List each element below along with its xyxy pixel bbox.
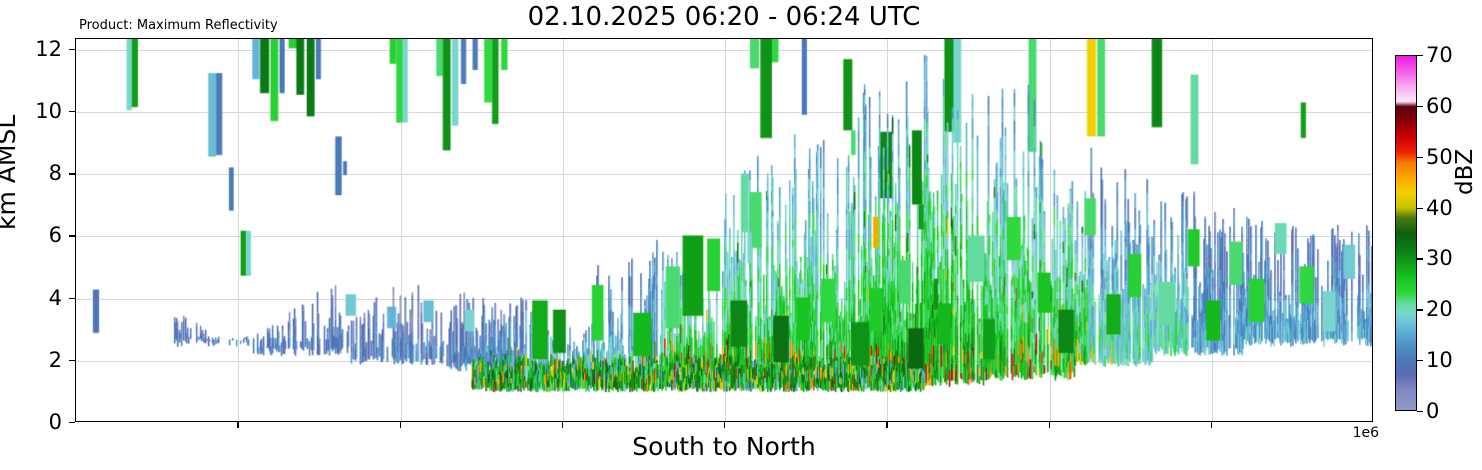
- colorbar-tick-mark: [1417, 208, 1423, 209]
- colorbar-tick-mark: [1417, 55, 1423, 56]
- colorbar-tick-mark: [1417, 157, 1423, 158]
- colorbar-label: dBZ: [1452, 149, 1478, 195]
- radar-cross-section-figure: 02.10.2025 06:20 - 06:24 UTC Product: Ma…: [0, 0, 1482, 470]
- colorbar-tick-label: 40: [1426, 196, 1453, 220]
- reflectivity-heatmap: [76, 39, 1372, 421]
- y-tick-label: 2: [0, 348, 62, 372]
- x-tick-mark: [562, 422, 563, 428]
- colorbar-tick-label: 0: [1426, 399, 1439, 423]
- colorbar-tick-mark: [1417, 411, 1423, 412]
- y-tick-label: 8: [0, 161, 62, 185]
- colorbar-tick-mark: [1417, 360, 1423, 361]
- y-tick-label: 12: [0, 37, 62, 61]
- colorbar-tick-label: 20: [1426, 297, 1453, 321]
- x-axis-label: South to North: [75, 432, 1373, 461]
- colorbar-gradient: [1395, 55, 1417, 411]
- plot-area[interactable]: [75, 38, 1373, 422]
- product-annotation: Product: Maximum Reflectivity: [79, 18, 278, 33]
- colorbar-tick-label: 70: [1426, 43, 1453, 67]
- colorbar-tick-label: 60: [1426, 94, 1453, 118]
- colorbar-tick-label: 50: [1426, 145, 1453, 169]
- x-tick-mark: [1211, 422, 1212, 428]
- colorbar-tick-label: 30: [1426, 246, 1453, 270]
- y-tick-label: 0: [0, 410, 62, 434]
- y-tick-mark: [69, 298, 75, 299]
- y-tick-mark: [69, 111, 75, 112]
- x-tick-mark: [724, 422, 725, 428]
- colorbar-tick-mark: [1417, 106, 1423, 107]
- x-tick-mark: [1049, 422, 1050, 428]
- colorbar-tick-label: 10: [1426, 348, 1453, 372]
- y-tick-mark: [69, 173, 75, 174]
- colorbar-tick-mark: [1417, 309, 1423, 310]
- y-tick-mark: [69, 422, 75, 423]
- y-tick-mark: [69, 49, 75, 50]
- x-axis-offset-text: 1e6: [1353, 425, 1379, 441]
- colorbar[interactable]: [1395, 55, 1417, 411]
- x-tick-mark: [237, 422, 238, 428]
- y-tick-label: 4: [0, 286, 62, 310]
- y-tick-label: 10: [0, 99, 62, 123]
- x-tick-mark: [886, 422, 887, 428]
- y-tick-mark: [69, 235, 75, 236]
- y-tick-mark: [69, 360, 75, 361]
- y-tick-label: 6: [0, 223, 62, 247]
- x-tick-mark: [400, 422, 401, 428]
- colorbar-tick-mark: [1417, 258, 1423, 259]
